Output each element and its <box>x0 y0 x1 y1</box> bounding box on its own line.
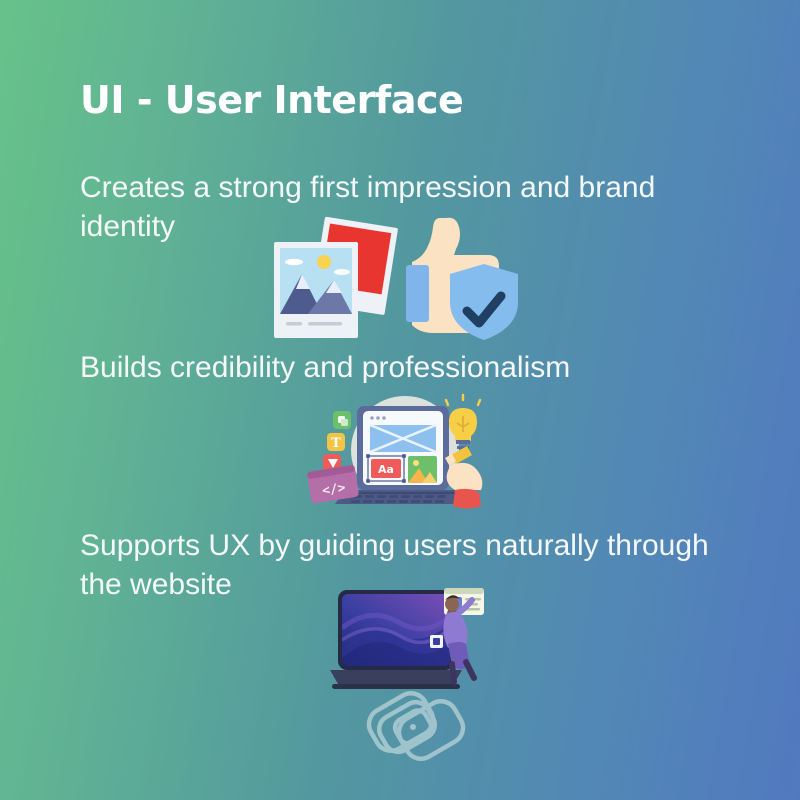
laptop-design-tools-illustration: Aa <box>305 392 500 520</box>
type-tool-icon: T <box>327 433 345 451</box>
photo-cards-thumbs-up-shield-illustration <box>258 218 543 340</box>
image-thumbnail <box>408 456 437 483</box>
page-title: UI - User Interface <box>80 78 463 122</box>
slide-canvas: UI - User Interface Creates a strong fir… <box>0 0 800 800</box>
photo-card-landscape <box>274 242 358 338</box>
laptop-dark <box>330 590 462 689</box>
svg-text:T: T <box>331 436 341 451</box>
layers-icon <box>333 411 351 429</box>
bullet-credibility: Builds credibility and professionalism <box>80 348 720 387</box>
brand-watermark-logo <box>352 682 482 772</box>
screen-widget-icon <box>430 635 443 648</box>
svg-text:Aa: Aa <box>378 463 394 476</box>
